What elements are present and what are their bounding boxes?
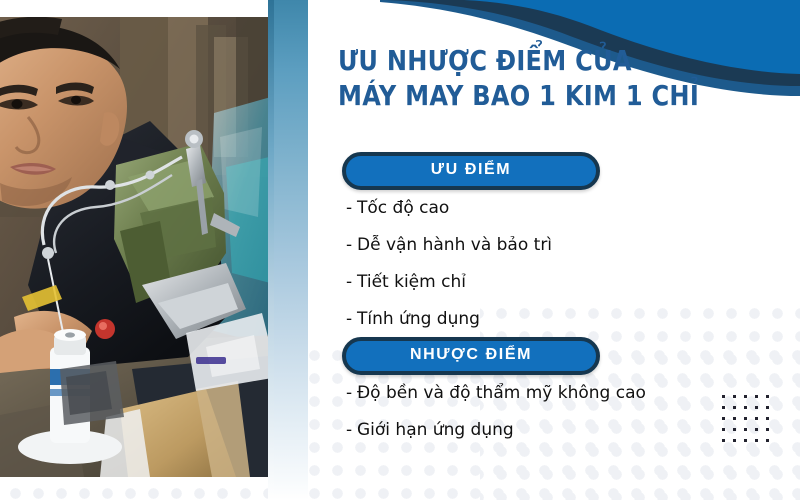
bullet-marker: - bbox=[346, 198, 357, 218]
list-item-label: Tốc độ cao bbox=[357, 198, 449, 218]
list-item-label: Giới hạn ứng dụng bbox=[357, 420, 514, 440]
page-title-line-2: MÁY MAY BAO 1 KIM 1 CHỈ bbox=[338, 78, 716, 113]
content-column: ƯU NHƯỢC ĐIỂM CỦA MÁY MAY BAO 1 KIM 1 CH… bbox=[336, 0, 796, 500]
photo-illustration bbox=[0, 17, 278, 477]
pros-list: -Tốc độ cao -Dễ vận hành và bảo trì -Tiế… bbox=[346, 198, 796, 346]
list-item-label: Tiết kiệm chỉ bbox=[357, 272, 466, 292]
cons-badge-label: NHƯỢC ĐIỂM bbox=[410, 347, 532, 363]
pros-badge: ƯU ĐIỂM bbox=[342, 152, 600, 190]
product-photo bbox=[0, 17, 278, 477]
pros-badge-label: ƯU ĐIỂM bbox=[431, 162, 511, 178]
list-item: -Độ bền và độ thẩm mỹ không cao bbox=[346, 383, 796, 403]
list-item: -Tốc độ cao bbox=[346, 198, 796, 218]
list-item-label: Tính ứng dụng bbox=[357, 309, 480, 329]
list-item: -Tiết kiệm chỉ bbox=[346, 272, 796, 292]
page-title: ƯU NHƯỢC ĐIỂM CỦA MÁY MAY BAO 1 KIM 1 CH… bbox=[338, 43, 716, 113]
bullet-marker: - bbox=[346, 272, 357, 292]
photo-image bbox=[0, 17, 278, 477]
list-item: -Dễ vận hành và bảo trì bbox=[346, 235, 796, 255]
infographic-slide: ƯU NHƯỢC ĐIỂM CỦA MÁY MAY BAO 1 KIM 1 CH… bbox=[0, 0, 800, 500]
bullet-marker: - bbox=[346, 309, 357, 329]
list-item: -Tính ứng dụng bbox=[346, 309, 796, 329]
page-title-line-1: ƯU NHƯỢC ĐIỂM CỦA bbox=[338, 43, 716, 78]
cons-list: -Độ bền và độ thẩm mỹ không cao -Giới hạ… bbox=[346, 383, 796, 457]
bullet-marker: - bbox=[346, 235, 357, 255]
list-item-label: Độ bền và độ thẩm mỹ không cao bbox=[357, 383, 646, 403]
list-item-label: Dễ vận hành và bảo trì bbox=[357, 235, 552, 255]
bullet-marker: - bbox=[346, 420, 357, 440]
bullet-marker: - bbox=[346, 383, 357, 403]
list-item: -Giới hạn ứng dụng bbox=[346, 420, 796, 440]
cons-badge: NHƯỢC ĐIỂM bbox=[342, 337, 600, 375]
accent-stripe bbox=[274, 0, 308, 500]
